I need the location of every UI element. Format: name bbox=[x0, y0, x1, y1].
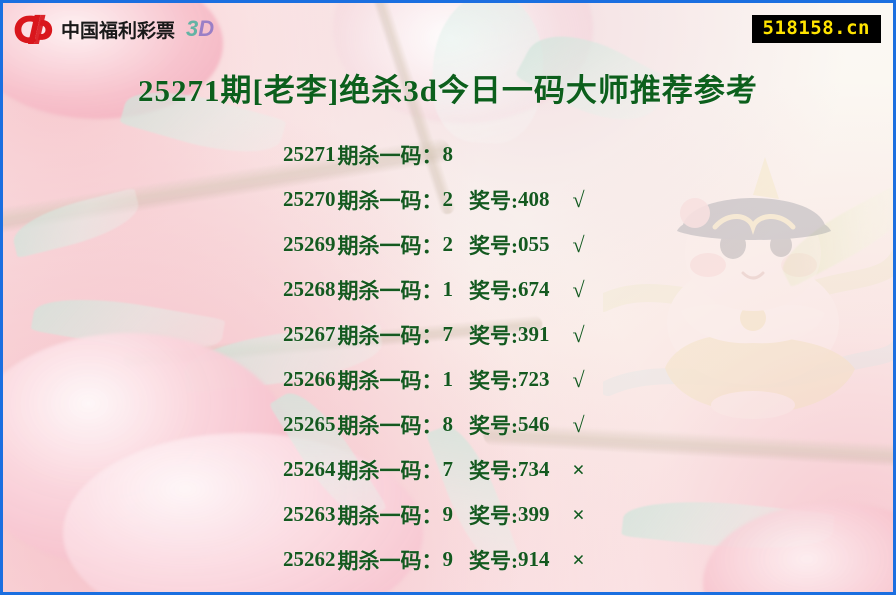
row-kill-digit: 1 bbox=[443, 277, 454, 302]
row-issue-number: 25265 bbox=[283, 412, 336, 437]
check-icon: √ bbox=[568, 277, 590, 303]
row-kill-label: 期杀一码： bbox=[338, 230, 443, 260]
row-prize-number: 055 bbox=[518, 232, 550, 257]
row-prize-label: 奖号: bbox=[469, 365, 518, 395]
row-issue-number: 25264 bbox=[283, 457, 336, 482]
china-welfare-lottery-logo-icon bbox=[13, 12, 53, 46]
row-prize-label: 奖号: bbox=[469, 545, 518, 575]
prediction-row: 25269期杀一码：2奖号:055√ bbox=[283, 222, 893, 267]
prediction-row: 25264期杀一码：7奖号:734× bbox=[283, 447, 893, 492]
row-prize-number: 546 bbox=[518, 412, 550, 437]
row-issue-number: 25262 bbox=[283, 547, 336, 572]
cross-icon: × bbox=[568, 502, 590, 528]
check-icon: √ bbox=[568, 322, 590, 348]
site-domain-badge: 518158.cn bbox=[752, 15, 881, 43]
brand-game-3: 3 bbox=[186, 16, 198, 41]
prediction-row: 25270期杀一码：2奖号:408√ bbox=[283, 177, 893, 222]
brand-game-label: 3D bbox=[186, 16, 214, 42]
row-kill-label: 期杀一码： bbox=[338, 500, 443, 530]
row-issue-number: 25263 bbox=[283, 502, 336, 527]
check-icon: √ bbox=[568, 232, 590, 258]
row-prize-label: 奖号: bbox=[469, 230, 518, 260]
prediction-row: 25263期杀一码：9奖号:399× bbox=[283, 492, 893, 537]
row-kill-label: 期杀一码： bbox=[338, 140, 443, 170]
prediction-row: 25262期杀一码：9奖号:914× bbox=[283, 537, 893, 582]
row-prize-number: 408 bbox=[518, 187, 550, 212]
row-issue-number: 25270 bbox=[283, 187, 336, 212]
row-kill-label: 期杀一码： bbox=[338, 365, 443, 395]
site-header: 中国福利彩票 3D 518158.cn bbox=[3, 3, 893, 55]
row-prize-label: 奖号: bbox=[469, 275, 518, 305]
row-kill-digit: 7 bbox=[443, 322, 454, 347]
row-kill-label: 期杀一码： bbox=[338, 545, 443, 575]
lottery-prediction-page: 中国福利彩票 3D 518158.cn 25271期[老李]绝杀3d今日一码大师… bbox=[0, 0, 896, 595]
row-prize-number: 734 bbox=[518, 457, 550, 482]
prediction-row: 25265期杀一码：8奖号:546√ bbox=[283, 402, 893, 447]
row-issue-number: 25267 bbox=[283, 322, 336, 347]
prediction-row: 25271期杀一码：8 bbox=[283, 132, 893, 177]
row-kill-digit: 8 bbox=[443, 142, 454, 167]
row-prize-label: 奖号: bbox=[469, 320, 518, 350]
cross-icon: × bbox=[568, 547, 590, 573]
row-prize-number: 399 bbox=[518, 502, 550, 527]
prediction-row: 25268期杀一码：1奖号:674√ bbox=[283, 267, 893, 312]
row-prize-number: 674 bbox=[518, 277, 550, 302]
row-issue-number: 25266 bbox=[283, 367, 336, 392]
row-kill-label: 期杀一码： bbox=[338, 275, 443, 305]
prediction-row: 25267期杀一码：7奖号:391√ bbox=[283, 312, 893, 357]
row-kill-label: 期杀一码： bbox=[338, 455, 443, 485]
row-kill-digit: 9 bbox=[443, 547, 454, 572]
row-prize-label: 奖号: bbox=[469, 185, 518, 215]
row-kill-digit: 8 bbox=[443, 412, 454, 437]
row-kill-label: 期杀一码： bbox=[338, 410, 443, 440]
check-icon: √ bbox=[568, 367, 590, 393]
page-title: 25271期[老李]绝杀3d今日一码大师推荐参考 bbox=[3, 65, 893, 110]
cross-icon: × bbox=[568, 457, 590, 483]
row-prize-number: 391 bbox=[518, 322, 550, 347]
row-kill-digit: 1 bbox=[443, 367, 454, 392]
row-prize-label: 奖号: bbox=[469, 410, 518, 440]
row-kill-label: 期杀一码： bbox=[338, 185, 443, 215]
brand-name: 中国福利彩票 bbox=[61, 16, 175, 43]
brand-game-d: D bbox=[198, 16, 214, 41]
row-kill-digit: 7 bbox=[443, 457, 454, 482]
check-icon: √ bbox=[568, 412, 590, 438]
brand-block: 中国福利彩票 3D bbox=[13, 12, 214, 46]
row-issue-number: 25268 bbox=[283, 277, 336, 302]
row-prize-label: 奖号: bbox=[469, 500, 518, 530]
row-prize-number: 914 bbox=[518, 547, 550, 572]
row-kill-label: 期杀一码： bbox=[338, 320, 443, 350]
prediction-row: 25266期杀一码：1奖号:723√ bbox=[283, 357, 893, 402]
row-issue-number: 25269 bbox=[283, 232, 336, 257]
row-issue-number: 25271 bbox=[283, 142, 336, 167]
row-prize-number: 723 bbox=[518, 367, 550, 392]
row-kill-digit: 9 bbox=[443, 502, 454, 527]
row-kill-digit: 2 bbox=[443, 187, 454, 212]
row-kill-digit: 2 bbox=[443, 232, 454, 257]
check-icon: √ bbox=[568, 187, 590, 213]
prediction-list: 25271期杀一码：825270期杀一码：2奖号:408√25269期杀一码：2… bbox=[3, 132, 893, 582]
row-prize-label: 奖号: bbox=[469, 455, 518, 485]
